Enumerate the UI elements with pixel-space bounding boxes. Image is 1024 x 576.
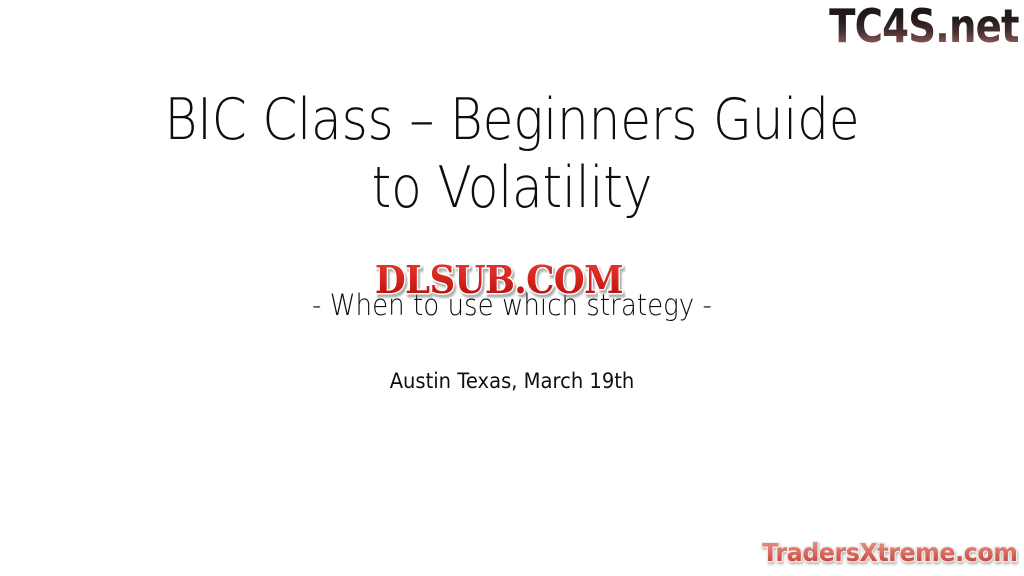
watermark-tradersxtreme-com-fill: TradersXtreme.com — [763, 538, 1018, 568]
watermark-tradersxtreme-com: TradersXtreme.comTradersXtreme.com — [763, 538, 1018, 568]
watermark-dlsub-com-fill: DLSUB.COM — [375, 259, 623, 301]
title-line-1: BIC Class – Beginners Guide — [116, 86, 908, 154]
watermark-dlsub-com: DLSUB.COMDLSUB.COM — [375, 259, 623, 301]
watermark-tc4s-net: TC4S.net — [829, 1, 1019, 51]
presentation-slide: TC4S.net BIC Class – Beginners Guide to … — [0, 0, 1024, 576]
slide-title: BIC Class – Beginners Guide to Volatilit… — [62, 86, 962, 222]
slide-location-date: Austin Texas, March 19th — [94, 368, 931, 394]
title-line-2: to Volatility — [116, 154, 908, 222]
